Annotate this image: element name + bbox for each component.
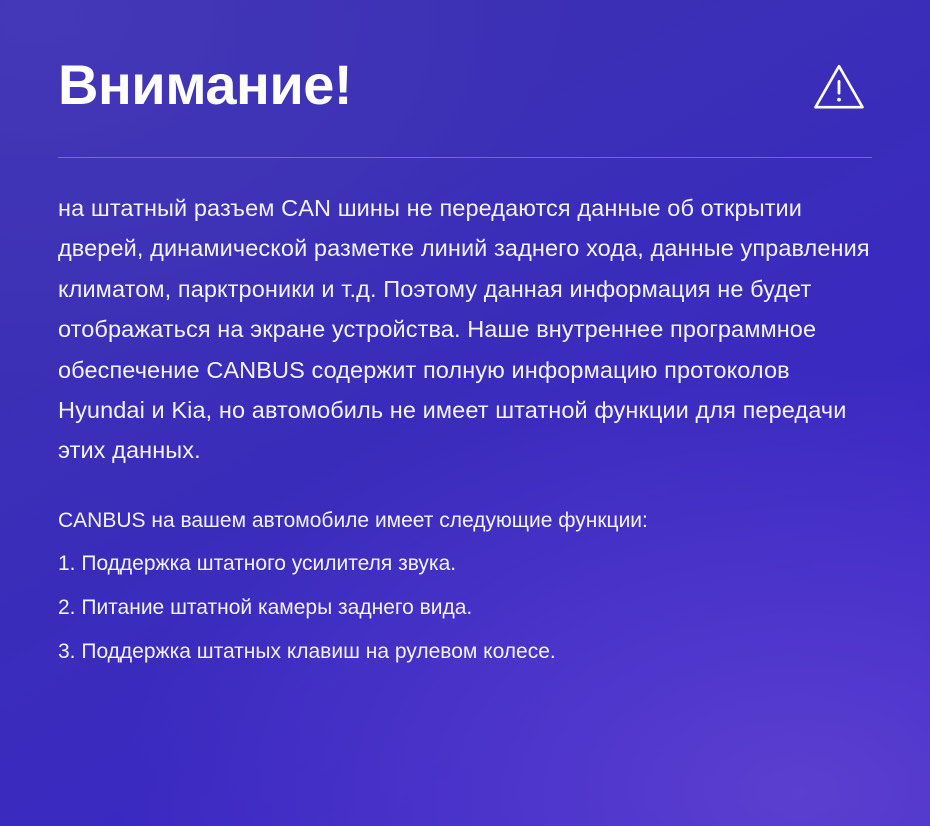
list-item: 3. Поддержка штатных клавиш на рулевом к…	[58, 636, 872, 667]
warning-banner: Внимание! на штатный разъем CAN шины не …	[0, 0, 930, 826]
warning-paragraph: на штатный разъем CAN шины не передаются…	[58, 188, 872, 471]
functions-block: CANBUS на вашем автомобиле имеет следующ…	[58, 505, 872, 667]
banner-header: Внимание!	[58, 52, 872, 117]
list-item: 2. Питание штатной камеры заднего вида.	[58, 592, 872, 623]
page-title: Внимание!	[58, 52, 352, 115]
divider	[58, 157, 872, 158]
functions-intro: CANBUS на вашем автомобиле имеет следующ…	[58, 505, 872, 536]
list-item: 1. Поддержка штатного усилителя звука.	[58, 548, 872, 579]
warning-triangle-icon	[812, 62, 866, 117]
